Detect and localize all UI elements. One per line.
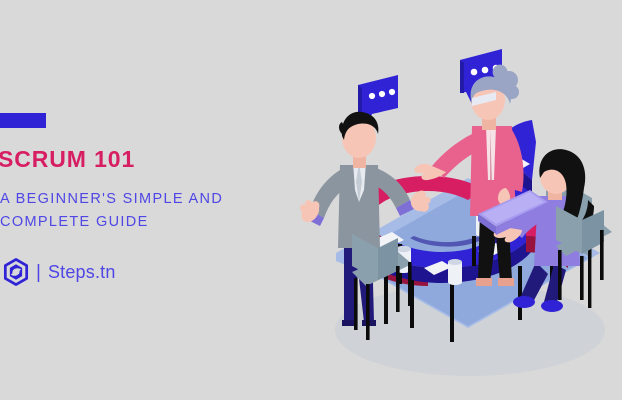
brand-divider: |: [36, 263, 41, 282]
hexagon-steps-logo-icon: [2, 258, 30, 286]
brand-lockup: | Steps.tn: [2, 258, 116, 286]
page-title: SCRUM 101: [0, 148, 135, 171]
cup-right: [448, 259, 462, 285]
banner-root: SCRUM 101 A BEGINNER'S SIMPLE AND COMPLE…: [0, 0, 622, 400]
brand-name: Steps.tn: [48, 262, 116, 283]
accent-bar: [0, 113, 46, 128]
page-subtitle: A BEGINNER'S SIMPLE AND COMPLETE GUIDE: [0, 188, 318, 235]
scrum-team-meeting-illustration: [300, 30, 622, 385]
